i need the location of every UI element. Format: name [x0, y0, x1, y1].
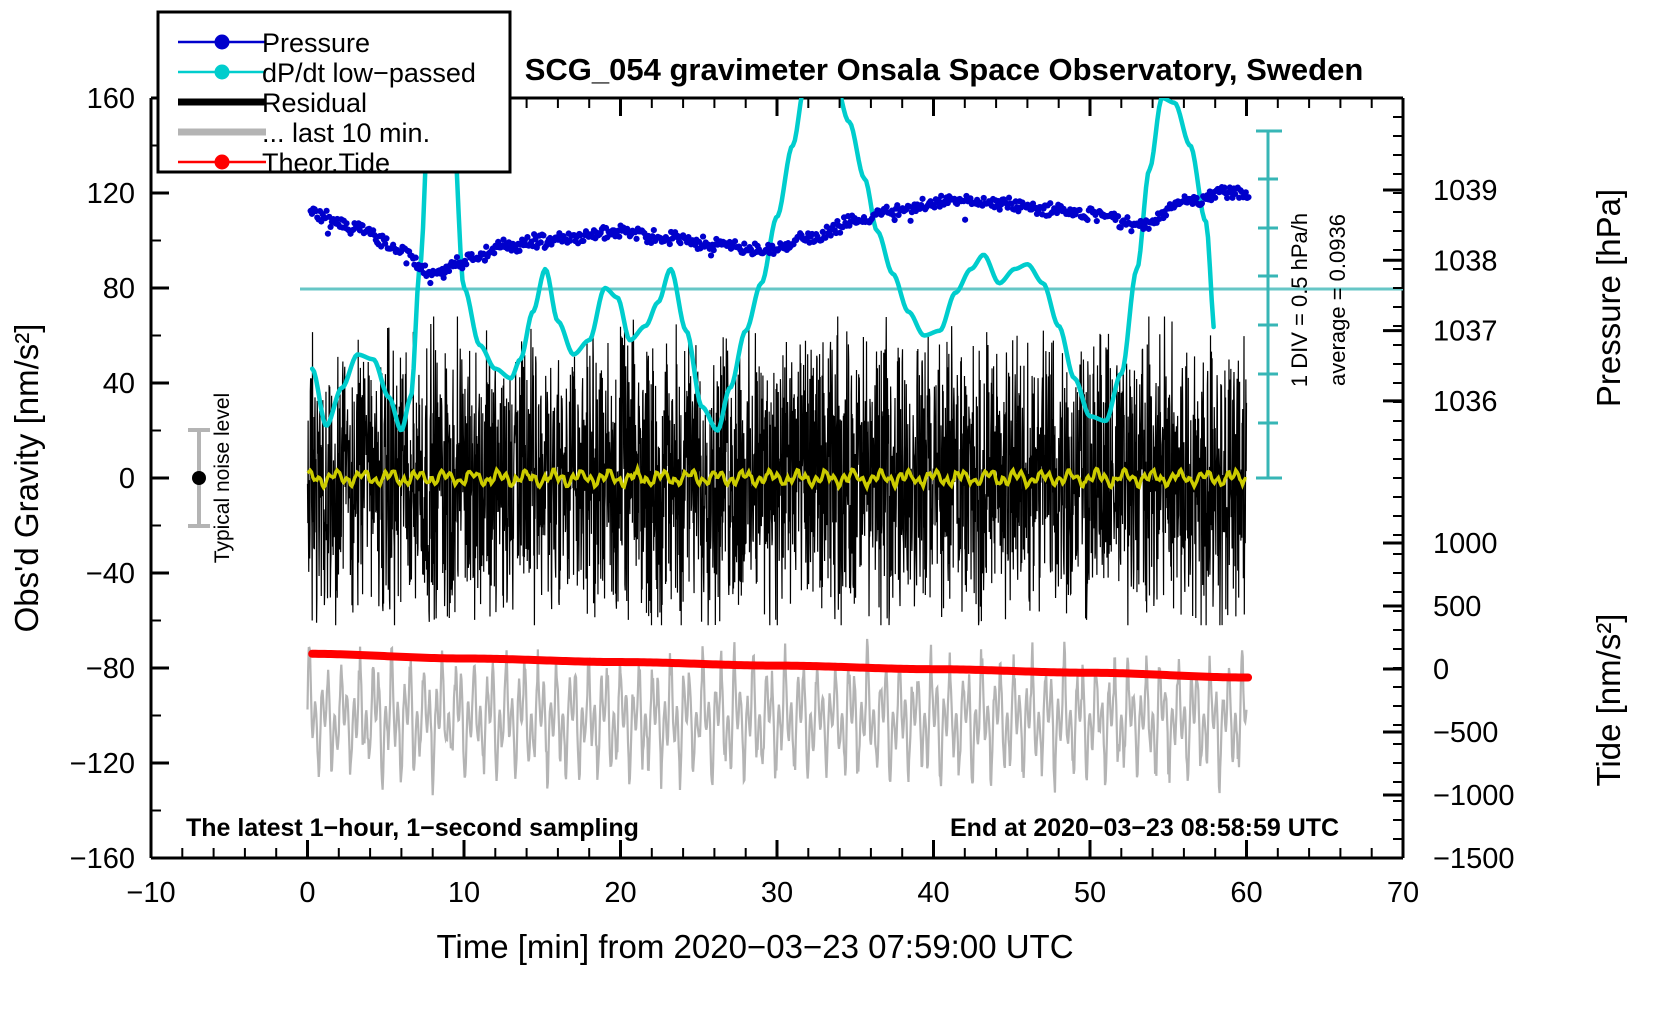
typical-noise-level-label: Typical noise level — [211, 393, 234, 563]
x-tick-label: 60 — [1230, 877, 1262, 909]
x-tick-label: 0 — [299, 877, 315, 909]
dpdt-div-label: 1 DIV = 0.5 hPa/h — [1287, 213, 1312, 387]
y-left-axis-title: Obs'd Gravity [nm/s²] — [8, 324, 45, 633]
pressure-tick-label: 1036 — [1433, 386, 1498, 418]
y-left-tick-label: 40 — [103, 368, 135, 400]
pressure-tick-label: 1039 — [1433, 175, 1498, 207]
legend-marker-dot-icon — [215, 155, 230, 170]
page-title: SCG_054 gravimeter Onsala Space Observat… — [525, 52, 1364, 87]
y-left-tick-label: 120 — [87, 178, 135, 210]
pressure-tick-label: 1037 — [1433, 316, 1498, 348]
legend-marker-dot-icon — [215, 35, 230, 50]
tide-tick-label: 1000 — [1433, 528, 1498, 560]
y-left-tick-label: 80 — [103, 273, 135, 305]
tide-axis-title: Tide [nm/s²] — [1590, 614, 1627, 787]
tide-tick-label: −500 — [1433, 717, 1498, 749]
legend-marker-dot-icon — [215, 65, 230, 80]
x-tick-label: 40 — [917, 877, 949, 909]
x-tick-label: 20 — [604, 877, 636, 909]
tide-tick-label: 0 — [1433, 654, 1449, 686]
legend-item-label: Residual — [262, 88, 367, 118]
gravimeter-plot-page: 16012080400−40−80−120−160 −1001020304050… — [0, 0, 1660, 1020]
legend[interactable]: PressuredP/dt low−passedResidual... last… — [158, 12, 510, 178]
noise-level-marker-icon — [192, 471, 206, 485]
legend-item-label: Theor.Tide — [262, 148, 390, 178]
y-left-tick-label: −120 — [70, 748, 135, 780]
x-tick-label: 70 — [1387, 877, 1419, 909]
pressure-tick-label: 1038 — [1433, 245, 1498, 277]
x-tick-label: −10 — [126, 877, 175, 909]
x-axis-title: Time [min] from 2020−03−23 07:59:00 UTC — [436, 928, 1073, 965]
tide-tick-label: 500 — [1433, 591, 1481, 623]
legend-item-label: Pressure — [262, 28, 370, 58]
x-tick-label: 30 — [761, 877, 793, 909]
y-left-tick-label: −160 — [70, 843, 135, 875]
pressure-axis-title: Pressure [hPa] — [1590, 189, 1627, 407]
x-tick-label: 50 — [1074, 877, 1106, 909]
tide-tick-label: −1500 — [1433, 843, 1514, 875]
y-left-tick-label: 0 — [119, 463, 135, 495]
y-left-tick-label: −40 — [86, 558, 135, 590]
footer-left-text: The latest 1−hour, 1−second sampling — [186, 814, 639, 842]
legend-item-label: dP/dt low−passed — [262, 58, 476, 88]
plot-canvas: 16012080400−40−80−120−160 −1001020304050… — [0, 0, 1660, 1020]
tide-tick-label: −1000 — [1433, 780, 1514, 812]
y-left-tick-label: 160 — [87, 83, 135, 115]
legend-item-label: ... last 10 min. — [262, 118, 430, 148]
footer-right-text: End at 2020−03−23 08:58:59 UTC — [950, 814, 1339, 842]
dpdt-average-label: average = 0.0936 — [1325, 214, 1350, 386]
x-tick-label: 10 — [448, 877, 480, 909]
y-left-tick-label: −80 — [86, 653, 135, 685]
